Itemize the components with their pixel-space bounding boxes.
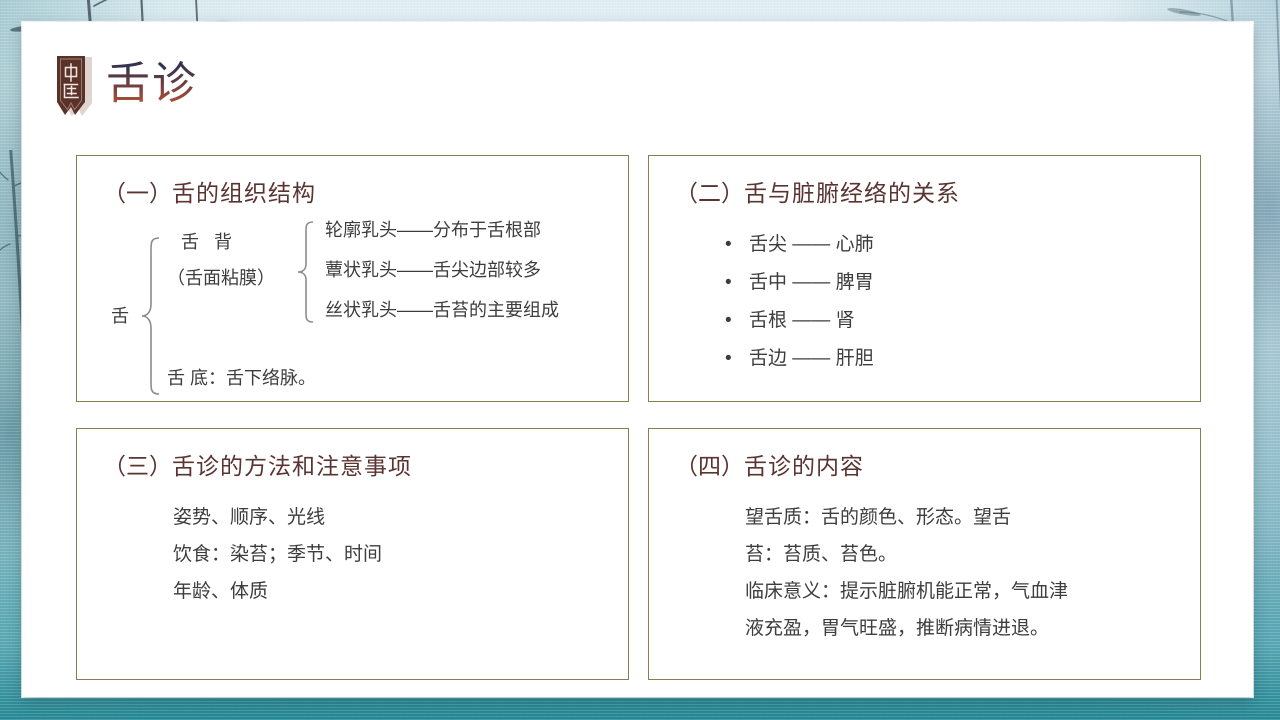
tree-branch-top-sub: （舌面粘膜） (167, 264, 275, 290)
panel-title: （三）舌诊的方法和注意事项 (103, 451, 628, 481)
slide-header: 舌诊 (22, 22, 1253, 132)
list-item: 临床意义：提示脏腑机能正常，气血津 (745, 573, 1178, 610)
panel-heading-text: 舌与脏腑经络的关系 (744, 180, 960, 206)
list-item: • 舌根 —— 肾 (749, 302, 1200, 340)
list-item: 姿势、顺序、光线 (173, 499, 606, 536)
panel-heading-text: 舌的组织结构 (172, 180, 316, 206)
dash-connector: —— (792, 348, 830, 369)
tree-branch-bottom: 舌 底：舌下络脉。 (167, 364, 316, 390)
seal-icon (51, 54, 98, 120)
list-item: 年龄、体质 (173, 573, 606, 610)
list-item: 苔：苔质、苔色。 (745, 536, 1178, 573)
list-item: 饮食：染苔；季节、时间 (173, 536, 606, 573)
tongue-part: 舌中 (749, 272, 787, 293)
dash-connector: —— (792, 272, 830, 293)
panel-method-notes: （三）舌诊的方法和注意事项 姿势、顺序、光线 饮食：染苔；季节、时间 年龄、体质 (76, 428, 629, 680)
panel-title: （四）舌诊的内容 (675, 451, 1200, 481)
dash-connector: —— (792, 234, 830, 255)
panel-heading-text: 舌诊的内容 (744, 453, 864, 479)
tree-leaf-1: 轮廓乳头——分布于舌根部 (325, 216, 541, 242)
bullet-icon: • (725, 264, 732, 302)
tree-leaf-3: 丝状乳头——舌苔的主要组成 (325, 296, 559, 322)
panel-number: （四） (675, 453, 744, 479)
panel-diagnosis-content: （四）舌诊的内容 望舌质：舌的颜色、形态。望舌 苔：苔质、苔色。 临床意义：提示… (648, 428, 1201, 680)
inner-brace (295, 220, 317, 324)
bullet-icon: • (725, 226, 732, 264)
organ-name: 心肺 (836, 234, 874, 255)
tree-branch-top: 舌 背 (181, 228, 237, 254)
page-title: 舌诊 (106, 54, 198, 114)
bullet-icon: • (725, 340, 732, 378)
panel-number: （三） (103, 453, 172, 479)
organ-name: 脾胃 (836, 272, 874, 293)
organ-name: 肾 (836, 310, 855, 331)
tongue-part: 舌尖 (749, 234, 787, 255)
outer-brace (139, 236, 165, 396)
panel-heading-text: 舌诊的方法和注意事项 (172, 453, 412, 479)
list-item: 望舌质：舌的颜色、形态。望舌 (745, 499, 1178, 536)
slide-content-card: 舌诊 （一）舌的组织结构 舌 舌 背 （舌面粘膜） (22, 22, 1253, 697)
panel-title: （一）舌的组织结构 (103, 178, 628, 208)
panel-organ-relation: （二）舌与脏腑经络的关系 • 舌尖 —— 心肺 • 舌中 —— 脾胃 (648, 155, 1201, 402)
method-notes-list: 姿势、顺序、光线 饮食：染苔；季节、时间 年龄、体质 (77, 499, 628, 610)
panel-tongue-structure: （一）舌的组织结构 舌 舌 背 （舌面粘膜） 舌 底：舌下络脉。 (76, 155, 629, 402)
organ-name: 肝胆 (836, 348, 874, 369)
panel-title: （二）舌与脏腑经络的关系 (675, 178, 1200, 208)
panel-number: （二） (675, 180, 744, 206)
list-item: • 舌中 —— 脾胃 (749, 264, 1200, 302)
slide: 舌诊 （一）舌的组织结构 舌 舌 背 （舌面粘膜） (0, 0, 1280, 720)
dash-connector: —— (792, 310, 830, 331)
diagnosis-content-list: 望舌质：舌的颜色、形态。望舌 苔：苔质、苔色。 临床意义：提示脏腑机能正常，气血… (649, 499, 1200, 647)
organ-relation-list: • 舌尖 —— 心肺 • 舌中 —— 脾胃 • 舌根 —— (649, 226, 1200, 378)
list-item: • 舌边 —— 肝胆 (749, 340, 1200, 378)
tongue-part: 舌根 (749, 310, 787, 331)
tree-root-label: 舌 (111, 302, 129, 328)
tongue-structure-diagram: 舌 舌 背 （舌面粘膜） 舌 底：舌下络脉。 轮廓乳头——分 (77, 214, 628, 400)
list-item: • 舌尖 —— 心肺 (749, 226, 1200, 264)
bullet-icon: • (725, 302, 732, 340)
seal-logo (51, 54, 98, 120)
panel-number: （一） (103, 180, 172, 206)
list-item: 液充盈，胃气旺盛，推断病情进退。 (745, 610, 1178, 647)
panel-grid: （一）舌的组织结构 舌 舌 背 （舌面粘膜） 舌 底：舌下络脉。 (76, 155, 1201, 680)
tongue-part: 舌边 (749, 348, 787, 369)
tree-leaf-2: 蕈状乳头——舌尖边部较多 (325, 256, 541, 282)
